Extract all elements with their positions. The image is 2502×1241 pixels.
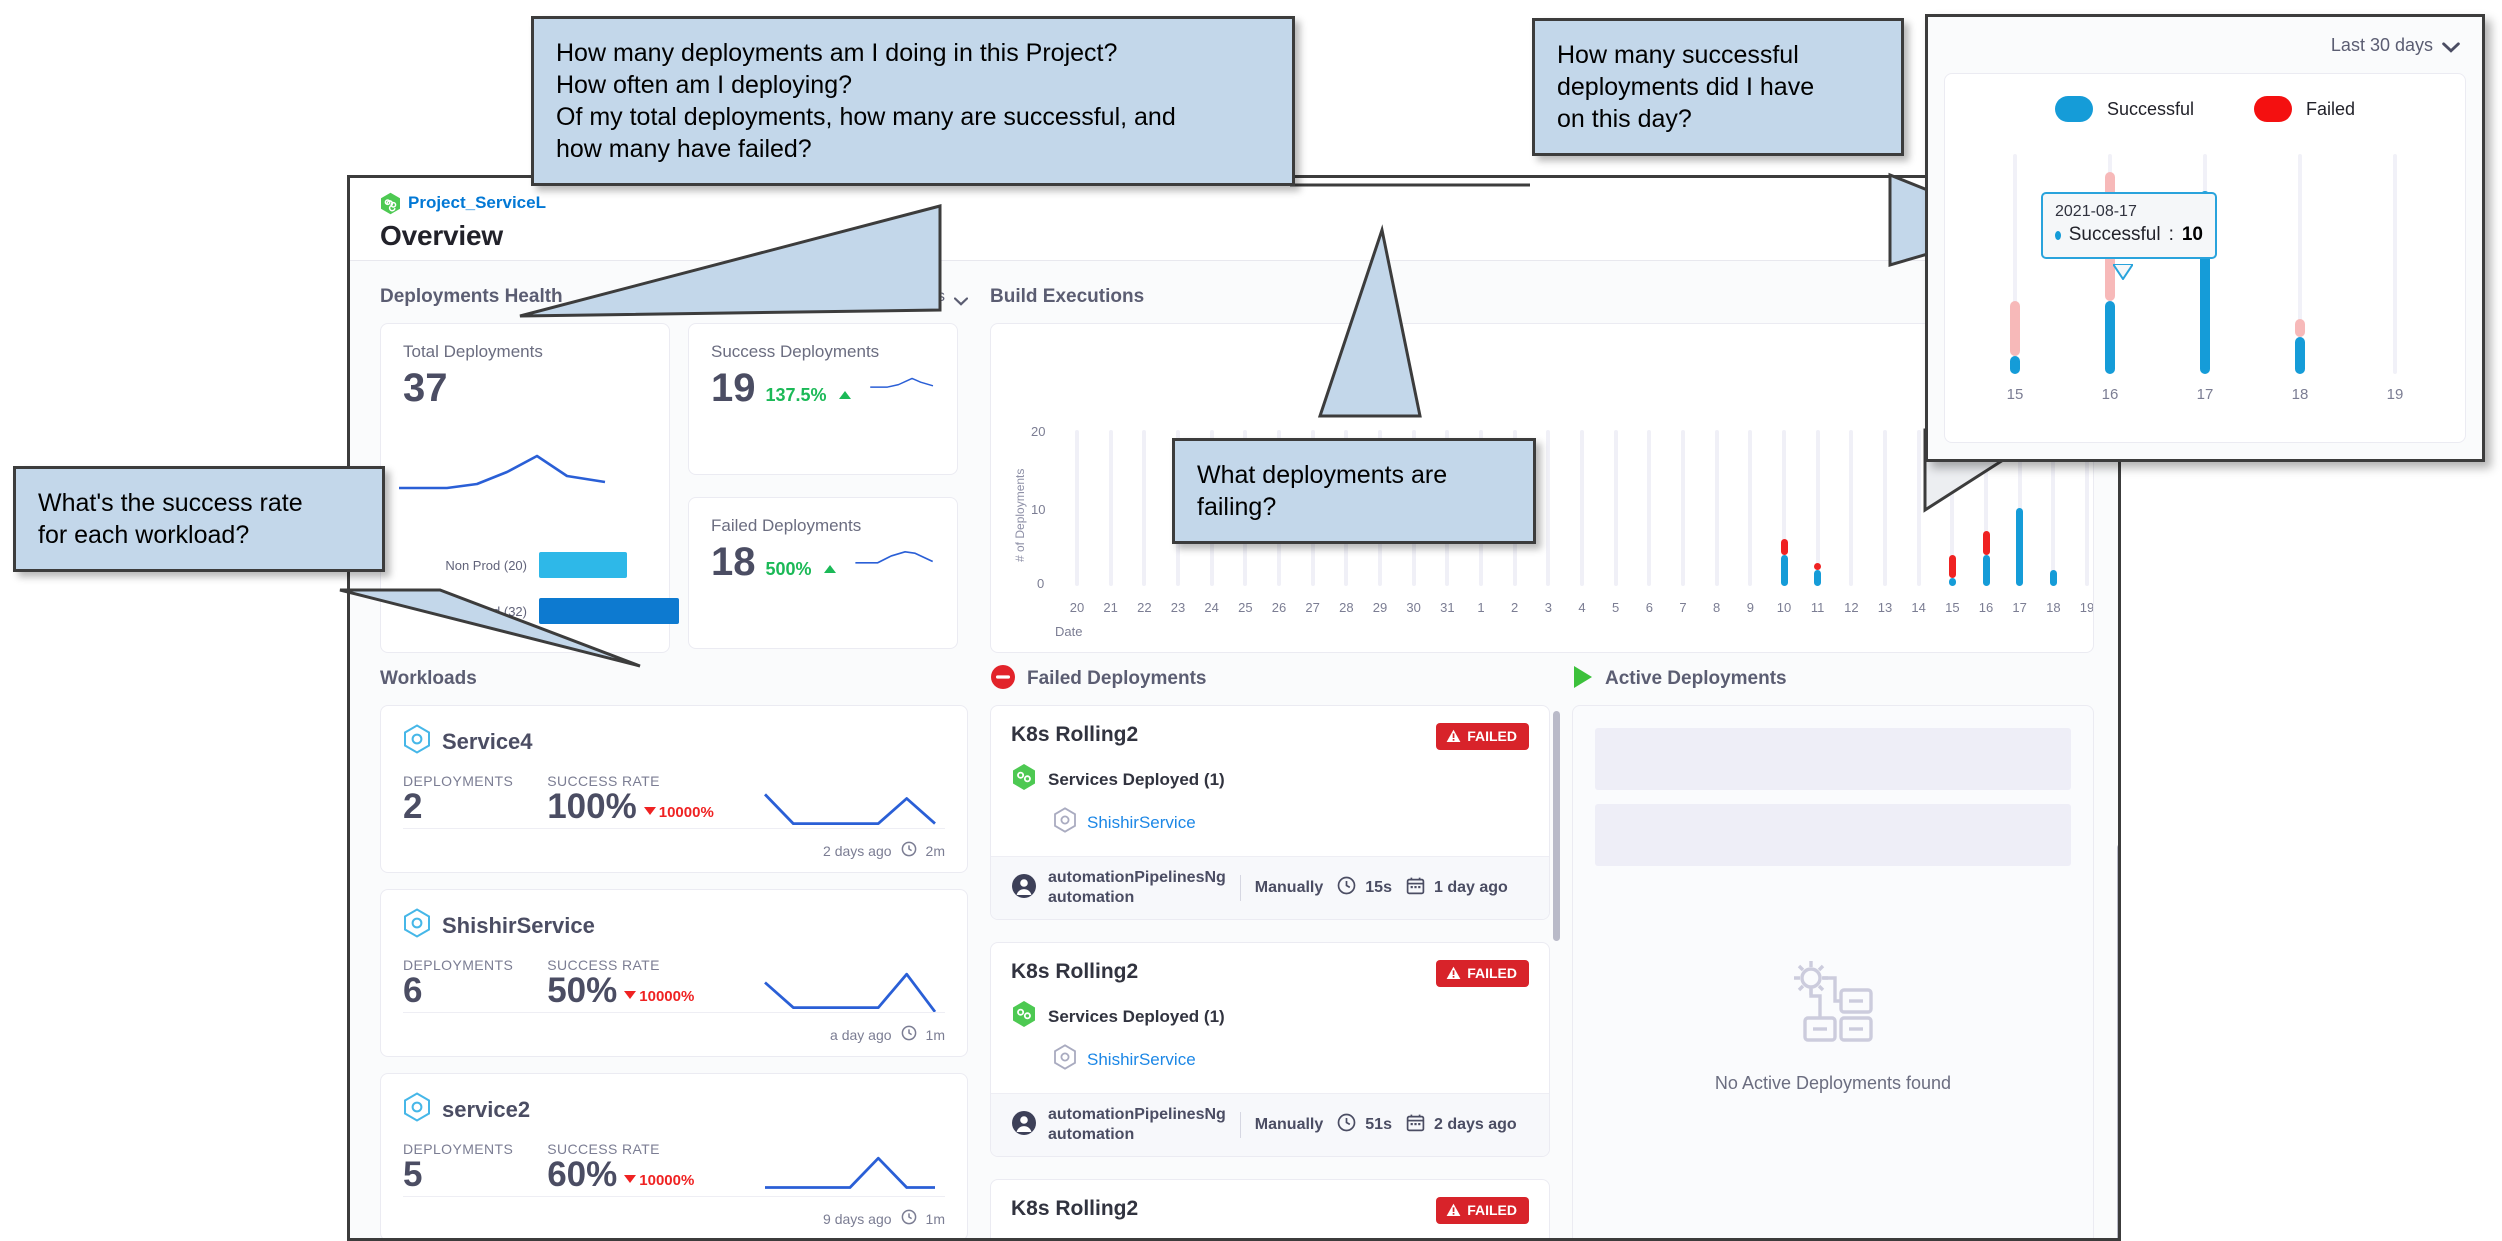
status-badge: FAILED [1436,960,1529,987]
total-deployments-value: 37 [403,366,647,410]
total-deployments-breakdown: Non Prod (20) Prod (32) [399,542,739,634]
breadcrumb-project-label[interactable]: Project_ServiceL [408,193,546,213]
chart-gridline [1614,430,1618,586]
clock-icon [901,1209,917,1228]
zoom-x-tick-15: 15 [2000,386,2030,403]
deployment-user: automationPipelinesNgautomation [1011,1105,1226,1145]
legend-swatch-failed [2254,96,2292,122]
callout-line: how many have failed? [556,133,1270,165]
breadcrumb[interactable]: Project_ServiceL [380,190,2088,216]
failed-deployment-card[interactable]: K8s Rolling2FAILEDServices Deployed (1)S… [990,942,1550,1157]
callout-line: for each workload? [38,519,360,551]
success-rate-value: 60% [547,1157,617,1194]
failed-deployment-card[interactable]: K8s Rolling2FAILEDServices Deployed (1)S… [990,705,1550,920]
chart-gridline [1917,430,1921,586]
x-tick-20: 20 [1064,600,1090,615]
chart-gridline [1748,430,1752,586]
status-badge-label: FAILED [1467,1202,1517,1218]
workload-last-run: a day ago [830,1027,892,1043]
chart-gridline [1647,430,1651,586]
x-tick-11: 11 [1805,600,1831,615]
success-rate-delta: 10000% [624,988,694,1010]
range-label: Last 7 days [863,288,945,306]
user-avatar-icon [1011,1110,1037,1141]
workloads-section: Workloads Service4DEPLOYMENTS2SUCCESS RA… [380,653,968,1241]
empty-state: No Active Deployments found [1595,956,2071,1094]
callout-success-rate: What's the success rate for each workloa… [13,466,385,572]
bar-successful-16[interactable] [1983,555,1990,586]
success-rate-delta: 10000% [624,1172,694,1194]
trend-up-icon [839,391,851,399]
failed-deployments-section: Failed Deployments K8s Rolling2FAILEDSer… [990,653,1550,1241]
chart-gridline [1715,430,1719,586]
total-deployments-card[interactable]: Total Deployments 37 Non Prod (20) [380,323,670,653]
deployment-duration: 51s [1337,1113,1392,1137]
service-link[interactable]: ShishirService [1087,1050,1196,1070]
status-badge-label: FAILED [1467,728,1517,744]
zoom-chart-gridline [2393,154,2397,374]
deployment-when: 1 day ago [1406,876,1508,900]
service-hexagon-icon [1053,807,1077,838]
workload-last-run: 9 days ago [823,1211,892,1227]
zoom-range-picker[interactable]: Last 30 days [2331,35,2460,56]
workload-footer: a day ago1m [403,1012,945,1056]
workload-duration: 1m [926,1027,945,1043]
success-deployments-delta: 137.5% [766,385,827,406]
dashboard-body: Deployments Health Last 7 days Total [350,261,2118,1241]
y-tick-10: 10 [1031,502,1045,517]
bar-successful-11[interactable] [1814,570,1821,586]
callout-deployments: How many deployments am I doing in this … [531,16,1295,186]
zoomed-chart-panel: Last 30 days Successful Failed 151617181… [1925,14,2485,462]
deployment-user: automationPipelinesNgautomation [1011,868,1226,908]
success-rate-value: 50% [547,973,617,1010]
x-tick-5: 5 [1603,600,1629,615]
workload-name: Service4 [442,729,533,755]
trend-up-icon [824,565,836,573]
clock-icon [901,1025,917,1044]
services-deployed-label: Services Deployed (1) [1048,1007,1225,1027]
tooltip-notch [2113,264,2133,280]
services-deployed-label: Services Deployed (1) [1048,770,1225,790]
zoom-panel-header: Last 30 days [1928,17,2482,73]
zoom-x-tick-16: 16 [2095,386,2125,403]
workloads-list[interactable]: Service4DEPLOYMENTS2SUCCESS RATE100%1000… [380,705,968,1241]
deployments-value: 6 [403,973,513,1010]
legend-label-successful: Successful [2107,99,2194,120]
bar-successful-18[interactable] [2050,570,2057,586]
legend-label-failed: Failed [2306,99,2355,120]
tooltip-separator: : [2169,224,2174,246]
skeleton-row [1595,728,2071,790]
failed-deployments-header: Failed Deployments [990,653,1550,705]
workloads-header: Workloads [380,653,968,705]
warning-triangle-icon [1446,729,1461,743]
tooltip-date: 2021-08-17 [2055,203,2203,221]
clock-icon [1337,1113,1356,1137]
x-tick-28: 28 [1333,600,1359,615]
x-tick-27: 27 [1300,600,1326,615]
x-tick-26: 26 [1266,600,1292,615]
zoom-x-tick-18: 18 [2285,386,2315,403]
x-tick-9: 9 [1737,600,1763,615]
x-tick-1: 1 [1468,600,1494,615]
x-tick-17: 17 [2007,600,2033,615]
chart-tooltip: 2021-08-17 Successful : 10 [2041,192,2217,259]
workload-deployments: DEPLOYMENTS2 [403,773,513,826]
deployment-when: 2 days ago [1406,1113,1517,1137]
x-tick-6: 6 [1636,600,1662,615]
bar-failed-15[interactable] [1949,555,1956,578]
callout-line: failing? [1197,491,1511,523]
service-hexagon-icon [403,908,431,943]
callout-line: How many successful [1557,39,1879,71]
tooltip-series-dot [2055,231,2061,240]
total-deployments-label: Total Deployments [403,342,647,362]
deployments-value: 5 [403,1157,513,1194]
service-hexagon-icon [1053,1044,1077,1075]
service-link[interactable]: ShishirService [1087,813,1196,833]
legend-item-successful: Successful [2055,96,2194,122]
workload-card-Service4[interactable]: Service4DEPLOYMENTS2SUCCESS RATE100%1000… [380,705,968,873]
skeleton-row [1595,804,2071,866]
bar-failed-16[interactable] [1983,531,1990,554]
chart-gridline [1580,430,1584,586]
active-deployments-title: Active Deployments [1605,668,1787,690]
deployment-user-name: automationPipelinesNgautomation [1048,1105,1226,1145]
deployments-value: 2 [403,789,513,826]
active-deployments-empty-card: No Active Deployments found [1572,705,2094,1241]
deployment-trigger: Manually [1255,879,1323,897]
workload-success-rate: SUCCESS RATE100%10000% [547,773,714,826]
success-rate-value: 100% [547,789,637,826]
y-tick-20: 20 [1031,424,1045,439]
x-tick-2: 2 [1502,600,1528,615]
divider [1240,1112,1241,1138]
x-tick-24: 24 [1199,600,1225,615]
chart-gridline [1109,430,1113,586]
bar-successful-15[interactable] [1949,578,1956,586]
x-tick-14: 14 [1906,600,1932,615]
trend-down-icon [624,1175,636,1183]
x-tick-8: 8 [1704,600,1730,615]
deployments-health-title: Deployments Health [380,286,563,308]
failed-deployment-card[interactable]: K8s Rolling2FAILEDServices Deployed (1)S… [990,1179,1550,1241]
breakdown-label-prod: Prod (32) [399,604,539,619]
workload-last-run: 2 days ago [823,843,892,859]
pipeline-name[interactable]: K8s Rolling2 [1011,1197,1138,1221]
x-axis-title: Date [1055,624,1082,639]
callout-line: How often am I deploying? [556,69,1270,101]
services-hexagon-green-icon [1011,763,1037,796]
x-tick-30: 30 [1401,600,1427,615]
success-deployments-value: 19 [711,366,756,410]
clock-icon [901,841,917,860]
workload-duration: 2m [926,843,945,859]
success-deployments-label: Success Deployments [711,342,935,362]
breakdown-row: Non Prod (20) [399,542,739,588]
zoom-bar-failed-18[interactable] [2295,319,2305,337]
callout-line: How many deployments am I doing in this … [556,37,1270,69]
build-executions-title: Build Executions [990,286,1144,308]
x-tick-31: 31 [1434,600,1460,615]
service-hexagon-icon [403,724,431,759]
failed-deployments-scrollbar[interactable] [1553,711,1560,941]
warning-triangle-icon [1446,1203,1461,1217]
chevron-down-icon [954,293,968,302]
workload-name: ShishirService [442,913,595,939]
chevron-down-icon [2442,40,2460,51]
x-tick-10: 10 [1771,600,1797,615]
trend-down-icon [644,807,656,815]
calendar-icon [1406,1113,1425,1137]
user-avatar-icon [1011,873,1037,904]
failed-deployments-list[interactable]: K8s Rolling2FAILEDServices Deployed (1)S… [990,705,1550,1241]
deployment-trigger: Manually [1255,1116,1323,1134]
x-tick-3: 3 [1535,600,1561,615]
failed-deployments-title: Failed Deployments [1027,668,1207,690]
x-tick-13: 13 [1872,600,1898,615]
workload-duration: 1m [926,1211,945,1227]
bar-successful-17[interactable] [2016,508,2023,586]
deployments-health-section: Deployments Health Last 7 days Total [380,271,968,653]
active-deployments-section: Active Deployments [1572,653,2118,1241]
success-deployments-card[interactable]: Success Deployments 19 137.5% [688,323,958,475]
zoom-bar-failed-15[interactable] [2010,301,2020,356]
play-triangle-green-icon [1572,665,1594,694]
failed-deployments-label: Failed Deployments [711,516,935,536]
divider [1240,875,1241,901]
calendar-icon [1406,876,1425,900]
bar-failed-11[interactable] [1814,563,1821,571]
clock-icon [1337,876,1356,900]
workload-name: service2 [442,1097,530,1123]
callout-successful-day: How many successful deployments did I ha… [1532,18,1904,156]
workload-deployments: DEPLOYMENTS5 [403,1141,513,1194]
workload-success-rate: SUCCESS RATE60%10000% [547,1141,694,1194]
deployment-meta-row: automationPipelinesNgautomationManually1… [991,856,1549,919]
empty-state-text: No Active Deployments found [1715,1073,1951,1094]
x-tick-18: 18 [2040,600,2066,615]
y-tick-0: 0 [1037,576,1044,591]
workload-footer: 9 days ago1m [403,1196,945,1240]
legend-item-failed: Failed [2254,96,2355,122]
bar-failed-10[interactable] [1781,539,1788,555]
zoom-x-tick-19: 19 [2380,386,2410,403]
chart-gridline [1546,430,1550,586]
x-tick-4: 4 [1569,600,1595,615]
zoom-range-label: Last 30 days [2331,35,2433,56]
workload-deployments: DEPLOYMENTS6 [403,957,513,1010]
deployments-health-header: Deployments Health Last 7 days [380,271,968,323]
project-hexagon-icon [380,192,401,215]
workloads-scrollbar[interactable] [2117,844,2121,1241]
warning-triangle-icon [1446,966,1461,980]
breakdown-bar-non-prod [539,552,627,578]
legend-swatch-successful [2055,96,2093,122]
x-tick-29: 29 [1367,600,1393,615]
pipeline-name[interactable]: K8s Rolling2 [1011,960,1138,984]
failed-deployments-delta: 500% [766,559,812,580]
breakdown-row: Prod (32) [399,588,739,634]
workload-card-service2[interactable]: service2DEPLOYMENTS5SUCCESS RATE60%10000… [380,1073,968,1241]
callout-line: What deployments are [1197,459,1511,491]
workloads-title: Workloads [380,668,477,690]
x-tick-21: 21 [1098,600,1124,615]
services-hexagon-green-icon [1011,1237,1037,1241]
callout-line: deployments did I have [1557,71,1879,103]
deployment-user-name: automationPipelinesNgautomation [1048,868,1226,908]
workload-success-rate: SUCCESS RATE50%10000% [547,957,694,1010]
zoom-bar-successful-18[interactable] [2295,337,2305,374]
callout-line: Of my total deployments, how many are su… [556,101,1270,133]
bar-successful-10[interactable] [1781,555,1788,586]
callout-failing: What deployments are failing? [1172,438,1536,544]
zoom-bar-successful-16[interactable] [2105,301,2115,374]
zoom-bar-successful-15[interactable] [2010,356,2020,374]
status-badge: FAILED [1436,1197,1529,1224]
success-rate-delta: 10000% [644,804,714,826]
x-tick-19: 19 [2074,600,2094,615]
pipeline-nodes-icon [1785,956,1881,1053]
x-tick-25: 25 [1232,600,1258,615]
deployment-duration: 15s [1337,876,1392,900]
harness-overview-window: Project_ServiceL Overview Deployments He… [347,175,2121,1241]
services-hexagon-green-icon [1011,1000,1037,1033]
x-tick-22: 22 [1131,600,1157,615]
workload-card-ShishirService[interactable]: ShishirServiceDEPLOYMENTS6SUCCESS RATE50… [380,889,968,1057]
pipeline-name[interactable]: K8s Rolling2 [1011,723,1138,747]
chart-gridline [1883,430,1887,586]
x-tick-7: 7 [1670,600,1696,615]
deployments-health-range-picker[interactable]: Last 7 days [863,288,968,306]
minus-circle-red-icon [990,664,1016,695]
failed-deployments-sparkline [854,541,935,575]
status-badge: FAILED [1436,723,1529,750]
total-deployments-sparkline [395,442,635,504]
callout-line: What's the success rate [38,487,360,519]
zoom-panel-chart[interactable]: Successful Failed 1516171819 2021-08-17 … [1944,73,2466,443]
active-deployments-header: Active Deployments [1572,653,2094,705]
x-tick-15: 15 [1939,600,1965,615]
trend-down-icon [624,991,636,999]
x-tick-12: 12 [1838,600,1864,615]
breakdown-bar-prod [539,598,679,624]
chart-gridline [1849,430,1853,586]
zoom-x-tick-17: 17 [2190,386,2220,403]
page-title: Overview [380,220,2088,252]
deployment-meta-row: automationPipelinesNgautomationManually5… [991,1093,1549,1156]
success-deployments-sparkline [869,367,935,401]
zoom-chart-legend: Successful Failed [1945,74,2465,122]
page-header: Project_ServiceL Overview [350,178,2118,261]
breakdown-label-non-prod: Non Prod (20) [399,558,539,573]
x-tick-23: 23 [1165,600,1191,615]
status-badge-label: FAILED [1467,965,1517,981]
lower-band: Workloads Service4DEPLOYMENTS2SUCCESS RA… [350,653,2118,1241]
screenshot-stage: Project_ServiceL Overview Deployments He… [0,0,2502,1241]
callout-line: on this day? [1557,103,1879,135]
tooltip-value: 10 [2182,224,2203,246]
tooltip-series-label: Successful [2069,224,2161,246]
service-hexagon-icon [403,1092,431,1127]
y-axis-title: # of Deployments [1013,469,1027,562]
chart-gridline [1681,430,1685,586]
chart-gridline [1075,430,1079,586]
workload-footer: 2 days ago2m [403,828,945,872]
chart-gridline [1142,430,1146,586]
x-tick-16: 16 [1973,600,1999,615]
